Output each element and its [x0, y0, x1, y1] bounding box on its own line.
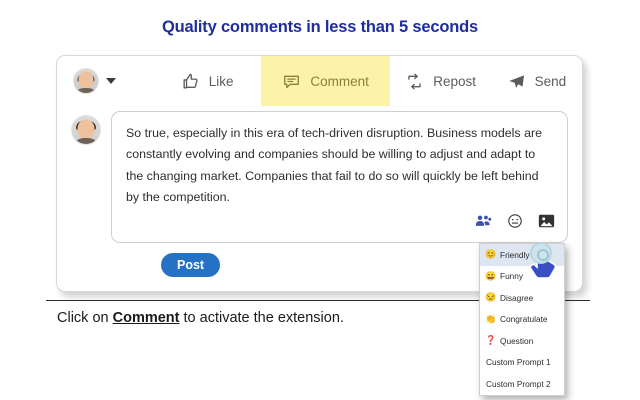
- funny-emoji-icon: 😀: [485, 272, 495, 281]
- menu-item-label: Disagree: [500, 293, 533, 303]
- menu-item-label: Friendly: [500, 250, 530, 260]
- menu-item-funny[interactable]: 😀 Funny: [480, 266, 564, 288]
- avatar-selector[interactable]: [57, 68, 153, 94]
- repost-label: Repost: [433, 74, 476, 89]
- emoji-smiley-icon[interactable]: [507, 213, 523, 234]
- friendly-emoji-icon: 😊: [485, 250, 495, 259]
- menu-item-label: Custom Prompt 1: [486, 357, 551, 367]
- speech-bubble-icon: [282, 72, 301, 91]
- send-label: Send: [535, 74, 567, 89]
- page-title: Quality comments in less than 5 seconds: [0, 18, 640, 37]
- like-button[interactable]: Like: [153, 56, 261, 106]
- screenshot-root: Quality comments in less than 5 seconds …: [0, 0, 640, 400]
- like-label: Like: [209, 74, 234, 89]
- comment-input[interactable]: So true, especially in this era of tech-…: [111, 111, 568, 243]
- congratulate-emoji-icon: 👏: [485, 315, 495, 324]
- post-button[interactable]: Post: [161, 253, 220, 277]
- compose-area: So true, especially in this era of tech-…: [71, 111, 568, 243]
- comment-text: So true, especially in this era of tech-…: [126, 123, 553, 208]
- comment-button[interactable]: Comment: [261, 56, 391, 106]
- question-mark-icon: ❓: [485, 336, 495, 345]
- caption-after: to activate the extension.: [179, 310, 343, 326]
- commenter-avatar: [71, 115, 101, 145]
- thumbs-up-icon: [181, 72, 200, 91]
- comment-label: Comment: [310, 74, 369, 89]
- instruction-caption: Click on Comment to activate the extensi…: [57, 310, 344, 326]
- mention-people-icon[interactable]: [475, 214, 492, 233]
- menu-item-friendly[interactable]: 😊 Friendly: [480, 244, 564, 266]
- repost-button[interactable]: Repost: [390, 56, 490, 106]
- menu-item-custom-prompt-1[interactable]: Custom Prompt 1: [480, 352, 564, 374]
- menu-item-label: Question: [500, 336, 533, 346]
- caption-before: Click on: [57, 310, 113, 326]
- chevron-down-icon[interactable]: [106, 78, 116, 84]
- disagree-emoji-icon: 😒: [485, 293, 495, 302]
- send-button[interactable]: Send: [491, 56, 582, 106]
- menu-item-question[interactable]: ❓ Question: [480, 330, 564, 352]
- caption-highlight: Comment: [113, 310, 180, 326]
- compose-tools: [475, 213, 555, 234]
- menu-item-label: Congratulate: [500, 314, 548, 324]
- menu-item-disagree[interactable]: 😒 Disagree: [480, 287, 564, 309]
- menu-item-congratulate[interactable]: 👏 Congratulate: [480, 309, 564, 331]
- prompt-dropdown-menu: 😊 Friendly 😀 Funny 😒 Disagree 👏 Congratu…: [479, 243, 565, 396]
- menu-item-custom-prompt-2[interactable]: Custom Prompt 2: [480, 373, 564, 395]
- paper-plane-icon: [507, 72, 526, 91]
- image-photo-icon[interactable]: [538, 213, 555, 234]
- user-avatar: [73, 68, 99, 94]
- repost-arrows-icon: [405, 72, 424, 91]
- menu-item-label: Custom Prompt 2: [486, 379, 551, 389]
- action-bar: Like Comment: [57, 56, 582, 106]
- menu-item-label: Funny: [500, 271, 523, 281]
